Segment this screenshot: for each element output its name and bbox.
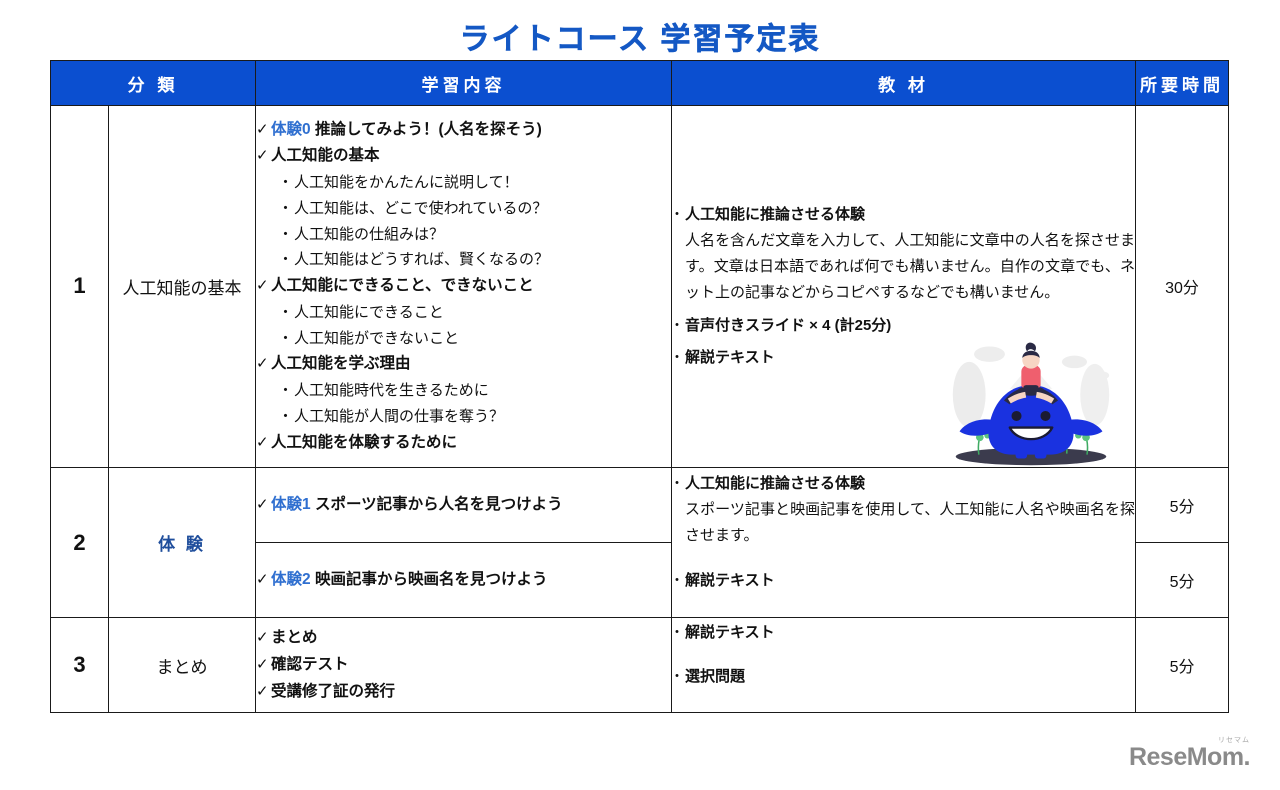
column-header-material: 教 材	[672, 61, 1136, 106]
item-label: 人工知能を学ぶ理由	[271, 355, 411, 372]
list-item: ✓人工知能を学ぶ理由 ・人工知能時代を生きるために ・人工知能が人間の仕事を奪う…	[256, 351, 671, 429]
list-item: ・人工知能はどうすれば、賢くなるの？	[278, 247, 671, 273]
item-label: 人工知能を体験するために	[271, 434, 457, 451]
material-heading: 人工知能に推論させる体験	[685, 472, 1135, 496]
list-item: ・人工知能ができないこと	[278, 326, 671, 352]
bullet-icon: ・	[278, 378, 294, 404]
row-duration: 30分	[1136, 106, 1229, 468]
row-content: ✓体験1 スポーツ記事から人名を見つけよう	[256, 467, 672, 542]
material-heading: 選択問題	[685, 665, 1135, 689]
check-icon: ✓	[256, 652, 271, 678]
list-item: ・人工知能時代を生きるために	[278, 378, 671, 404]
table-row: 1 人工知能の基本 ✓体験0 推論してみよう！(人名を探そう) ✓人工知能の基本…	[51, 106, 1229, 468]
item-label: まとめ	[271, 629, 318, 646]
material-heading: 音声付きスライド × 4 (計25分)	[685, 314, 1135, 338]
column-header-category: 分 類	[51, 61, 256, 106]
sub-label: 人工知能ができないこと	[294, 330, 459, 347]
content-checklist: ✓体験2 映画記事から映画名を見つけよう	[256, 567, 671, 594]
table-row: 3 まとめ ✓まとめ ✓確認テスト ✓受講修了証の発行	[51, 618, 1229, 713]
check-icon: ✓	[256, 117, 271, 143]
experience-label: 体験0	[271, 121, 311, 138]
row-category: まとめ	[109, 618, 256, 713]
table-row: 2 体 験 ✓体験1 スポーツ記事から人名を見つけよう 人工知能に推論させる体験…	[51, 467, 1229, 542]
content-checklist: ✓体験1 スポーツ記事から人名を見つけよう	[256, 492, 671, 519]
item-label: 受講修了証の発行	[271, 683, 395, 700]
schedule-table: 分 類 学習内容 教 材 所要時間 1 人工知能の基本 ✓体験0 推論してみよう…	[50, 60, 1229, 713]
page-title: ライトコース 学習予定表	[0, 0, 1280, 66]
schedule-table-wrapper: 分 類 学習内容 教 材 所要時間 1 人工知能の基本 ✓体験0 推論してみよう…	[50, 60, 1228, 713]
row-category: 人工知能の基本	[109, 106, 256, 468]
list-item: ✓人工知能にできること、できないこと ・人工知能にできること ・人工知能ができな…	[256, 273, 671, 351]
item-label: 確認テスト	[271, 656, 349, 673]
sub-list: ・人工知能をかんたんに説明して！ ・人工知能は、どこで使われているの？ ・人工知…	[256, 170, 671, 273]
list-item: ✓体験2 映画記事から映画名を見つけよう	[256, 567, 671, 594]
row-duration: 5分	[1136, 543, 1229, 618]
item-label: スポーツ記事から人名を見つけよう	[311, 496, 563, 513]
row-content: ✓体験2 映画記事から映画名を見つけよう	[256, 543, 672, 618]
bullet-icon: ・	[278, 222, 294, 248]
check-icon: ✓	[256, 351, 271, 377]
list-item: 音声付きスライド × 4 (計25分)	[672, 314, 1135, 338]
row-content: ✓まとめ ✓確認テスト ✓受講修了証の発行	[256, 618, 672, 713]
list-item: ✓人工知能を体験するために	[256, 430, 671, 457]
material-list: 人工知能に推論させる体験 人名を含んだ文章を入力して、人工知能に文章中の人名を探…	[672, 203, 1135, 369]
list-item: ✓受講修了証の発行	[256, 679, 671, 706]
table-header: 分 類 学習内容 教 材 所要時間	[51, 61, 1229, 106]
list-item: 解説テキスト	[672, 569, 1135, 593]
row-material: 人工知能に推論させる体験 人名を含んだ文章を入力して、人工知能に文章中の人名を探…	[672, 106, 1136, 468]
row-material: 解説テキスト 選択問題	[672, 618, 1136, 713]
material-heading: 人工知能に推論させる体験	[685, 203, 1135, 227]
experience-label: 体験2	[271, 571, 311, 588]
row-duration: 5分	[1136, 467, 1229, 542]
sub-label: 人工知能が人間の仕事を奪う？	[294, 408, 504, 425]
sub-label: 人工知能時代を生きるために	[294, 382, 489, 399]
item-label: 人工知能にできること、できないこと	[271, 277, 534, 294]
list-item: 人工知能に推論させる体験 スポーツ記事と映画記事を使用して、人工知能に人名や映画…	[672, 472, 1135, 549]
sub-label: 人工知能の仕組みは？	[294, 226, 444, 243]
column-header-content: 学習内容	[256, 61, 672, 106]
bullet-icon: ・	[278, 196, 294, 222]
list-item: ✓体験0 推論してみよう！(人名を探そう)	[256, 117, 671, 144]
experience-label: 体験1	[271, 496, 311, 513]
list-item: ・人工知能の仕組みは？	[278, 222, 671, 248]
bullet-icon: ・	[278, 170, 294, 196]
list-item: 選択問題	[672, 665, 1135, 689]
list-item: 解説テキスト	[672, 346, 1135, 370]
table-body: 1 人工知能の基本 ✓体験0 推論してみよう！(人名を探そう) ✓人工知能の基本…	[51, 106, 1229, 713]
item-label: 推論してみよう！(人名を探そう)	[311, 121, 542, 138]
sub-list: ・人工知能にできること ・人工知能ができないこと	[256, 300, 671, 352]
bullet-icon: ・	[278, 404, 294, 430]
list-item: ✓確認テスト	[256, 652, 671, 679]
list-item: 人工知能に推論させる体験 人名を含んだ文章を入力して、人工知能に文章中の人名を探…	[672, 203, 1135, 305]
sub-label: 人工知能にできること	[294, 304, 444, 321]
content-checklist: ✓まとめ ✓確認テスト ✓受講修了証の発行	[256, 625, 671, 705]
header-row: 分 類 学習内容 教 材 所要時間	[51, 61, 1229, 106]
content-checklist: ✓体験0 推論してみよう！(人名を探そう) ✓人工知能の基本 ・人工知能をかんた…	[256, 117, 671, 457]
check-icon: ✓	[256, 430, 271, 456]
list-item: ・人工知能をかんたんに説明して！	[278, 170, 671, 196]
row-duration: 5分	[1136, 618, 1229, 713]
list-item: ・人工知能が人間の仕事を奪う？	[278, 404, 671, 430]
material-list: 解説テキスト 選択問題	[672, 621, 1135, 689]
bullet-icon: ・	[278, 326, 294, 352]
material-body: スポーツ記事と映画記事を使用して、人工知能に人名や映画名を探させます。	[685, 497, 1135, 549]
row-number: 2	[51, 467, 109, 617]
row-content: ✓体験0 推論してみよう！(人名を探そう) ✓人工知能の基本 ・人工知能をかんた…	[256, 106, 672, 468]
row-number: 3	[51, 618, 109, 713]
list-item: ・人工知能にできること	[278, 300, 671, 326]
material-heading: 解説テキスト	[685, 621, 1135, 645]
check-icon: ✓	[256, 625, 271, 651]
sub-label: 人工知能をかんたんに説明して！	[294, 174, 519, 191]
material-list: 人工知能に推論させる体験 スポーツ記事と映画記事を使用して、人工知能に人名や映画…	[672, 472, 1135, 593]
material-heading: 解説テキスト	[685, 346, 1135, 370]
check-icon: ✓	[256, 273, 271, 299]
row-material: 人工知能に推論させる体験 スポーツ記事と映画記事を使用して、人工知能に人名や映画…	[672, 467, 1136, 617]
item-label: 映画記事から映画名を見つけよう	[311, 571, 548, 588]
material-body: 人名を含んだ文章を入力して、人工知能に文章中の人名を探させます。文章は日本語であ…	[685, 228, 1135, 305]
material-heading: 解説テキスト	[685, 569, 1135, 593]
list-item: 解説テキスト	[672, 621, 1135, 645]
bullet-icon: ・	[278, 247, 294, 273]
sub-label: 人工知能は、どこで使われているの？	[294, 200, 547, 217]
list-item: ✓人工知能の基本 ・人工知能をかんたんに説明して！ ・人工知能は、どこで使われて…	[256, 143, 671, 273]
list-item: ・人工知能は、どこで使われているの？	[278, 196, 671, 222]
resemom-logo: リセマム ReseMom.	[1129, 735, 1250, 772]
check-icon: ✓	[256, 567, 271, 593]
logo-wordmark: ReseMom.	[1129, 743, 1250, 772]
row-category: 体 験	[109, 467, 256, 617]
check-icon: ✓	[256, 143, 271, 169]
row-number: 1	[51, 106, 109, 468]
list-item: ✓体験1 スポーツ記事から人名を見つけよう	[256, 492, 671, 519]
check-icon: ✓	[256, 679, 271, 705]
item-label: 人工知能の基本	[271, 147, 380, 164]
list-item: ✓まとめ	[256, 625, 671, 652]
check-icon: ✓	[256, 492, 271, 518]
sub-label: 人工知能はどうすれば、賢くなるの？	[294, 251, 549, 268]
bullet-icon: ・	[278, 300, 294, 326]
sub-list: ・人工知能時代を生きるために ・人工知能が人間の仕事を奪う？	[256, 378, 671, 430]
column-header-duration: 所要時間	[1136, 61, 1229, 106]
